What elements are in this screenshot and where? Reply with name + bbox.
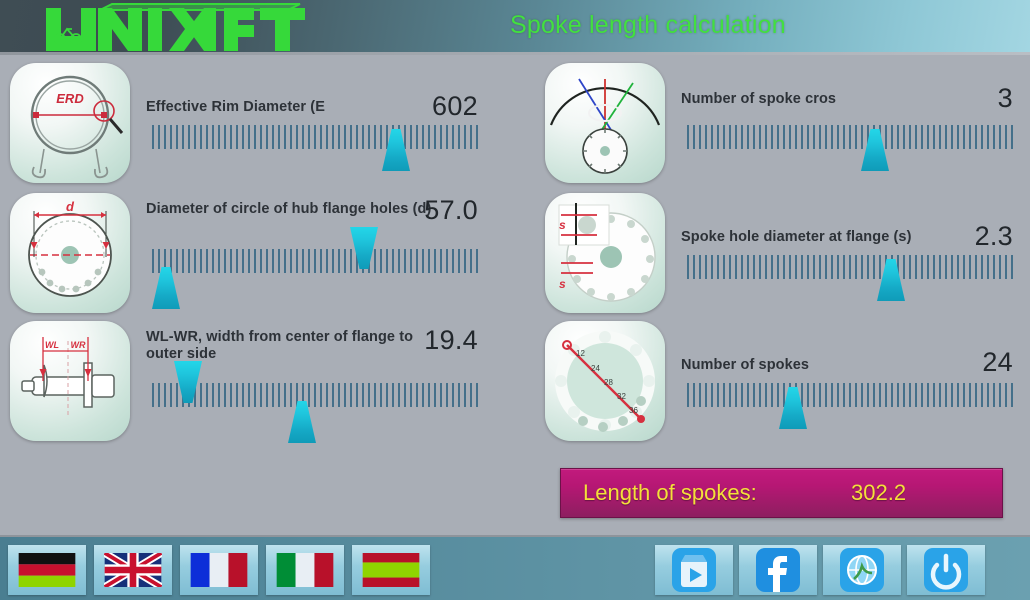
rim-erd-icon[interactable]: ERD bbox=[10, 63, 130, 183]
globe-icon bbox=[840, 548, 884, 592]
parameter-row: ERD Effective Rim Diameter (E 602 bbox=[10, 63, 510, 191]
svg-text:WL: WL bbox=[45, 340, 59, 350]
page-title: Spoke length calculation bbox=[510, 11, 786, 40]
parameter-controls: WL-WR, width from center of flange to ou… bbox=[146, 321, 510, 449]
svg-text:d: d bbox=[66, 199, 75, 214]
parameter-row: s s Spoke hole diameter at flange (s) 2.… bbox=[545, 193, 1030, 321]
parameter-slider[interactable] bbox=[146, 383, 510, 443]
right-parameter-column: Number of spoke cros 3 bbox=[545, 55, 1030, 535]
parameter-slider[interactable] bbox=[146, 125, 510, 185]
power-icon bbox=[924, 548, 968, 592]
parameter-label: WL-WR, width from center of flange to ou… bbox=[146, 329, 446, 363]
svg-text:ERD: ERD bbox=[56, 91, 84, 106]
parameter-label: Effective Rim Diameter (E bbox=[146, 99, 446, 116]
parameter-value: 602 bbox=[432, 91, 478, 122]
language-button-es[interactable] bbox=[352, 545, 430, 595]
number-of-spokes-icon[interactable]: 1224 2832 36 bbox=[545, 321, 665, 441]
parameter-row: WL WR WL-WR, width from center of flange… bbox=[10, 321, 510, 449]
italian-flag-icon bbox=[276, 553, 334, 587]
parameter-value: 2.3 bbox=[975, 221, 1013, 252]
slider-thumb-secondary[interactable] bbox=[288, 401, 316, 443]
parameter-controls: Number of spoke cros 3 bbox=[681, 63, 1030, 191]
slider-thumb[interactable] bbox=[779, 387, 807, 429]
slider-track[interactable] bbox=[152, 249, 482, 273]
language-button-fr[interactable] bbox=[180, 545, 258, 595]
hub-flange-circle-icon[interactable]: d bbox=[10, 193, 130, 313]
result-bar: Length of spokes: 302.2 bbox=[560, 468, 1003, 518]
slider-track[interactable] bbox=[687, 383, 1017, 407]
parameter-controls: Diameter of circle of hub flange holes (… bbox=[146, 193, 510, 321]
svg-text:12: 12 bbox=[576, 349, 585, 358]
slider-thumb-secondary[interactable] bbox=[152, 267, 180, 309]
power-button[interactable] bbox=[907, 545, 985, 595]
spoke-cross-icon[interactable] bbox=[545, 63, 665, 183]
parameter-row: 1224 2832 36 Number of spokes 24 bbox=[545, 321, 1030, 449]
svg-text:s: s bbox=[559, 277, 566, 291]
slider-thumb[interactable] bbox=[861, 129, 889, 171]
parameter-value: 3 bbox=[998, 83, 1013, 114]
parameter-label: Diameter of circle of hub flange holes (… bbox=[146, 201, 446, 218]
spoke-calculator-app: Spoke length calculation ERD bbox=[0, 0, 1030, 600]
app-header: Spoke length calculation bbox=[0, 0, 1030, 55]
parameter-controls: Spoke hole diameter at flange (s) 2.3 bbox=[681, 193, 1030, 321]
svg-text:32: 32 bbox=[617, 392, 626, 401]
result-label: Length of spokes: bbox=[583, 480, 757, 506]
svg-text:36: 36 bbox=[629, 406, 638, 415]
browser-button[interactable] bbox=[823, 545, 901, 595]
app-footer bbox=[0, 535, 1030, 600]
unikat-logo bbox=[38, 2, 313, 52]
svg-text:s: s bbox=[559, 218, 566, 232]
german-flag-icon bbox=[18, 553, 76, 587]
slider-track[interactable] bbox=[687, 125, 1017, 149]
slider-track[interactable] bbox=[152, 125, 482, 149]
svg-text:WR: WR bbox=[71, 340, 86, 350]
uk-flag-icon bbox=[104, 553, 162, 587]
result-value: 302.2 bbox=[851, 480, 906, 506]
parameter-label: Number of spokes bbox=[681, 357, 981, 374]
slider-thumb[interactable] bbox=[350, 227, 378, 269]
parameter-slider[interactable] bbox=[681, 125, 1030, 185]
hub-width-icon[interactable]: WL WR bbox=[10, 321, 130, 441]
slider-thumb[interactable] bbox=[877, 259, 905, 301]
spanish-flag-icon bbox=[362, 553, 420, 587]
parameter-slider[interactable] bbox=[681, 383, 1030, 443]
parameter-controls: Number of spokes 24 bbox=[681, 321, 1030, 449]
french-flag-icon bbox=[190, 553, 248, 587]
play-store-icon bbox=[672, 548, 716, 592]
parameter-value: 24 bbox=[982, 347, 1013, 378]
slider-track[interactable] bbox=[687, 255, 1017, 279]
language-button-it[interactable] bbox=[266, 545, 344, 595]
slider-thumb[interactable] bbox=[174, 361, 202, 403]
parameter-row: d Diameter of circle of hub flange holes… bbox=[10, 193, 510, 321]
facebook-icon bbox=[756, 548, 800, 592]
play-store-button[interactable] bbox=[655, 545, 733, 595]
parameter-slider[interactable] bbox=[681, 255, 1030, 315]
parameter-value: 19.4 bbox=[424, 325, 478, 356]
parameter-value: 57.0 bbox=[424, 195, 478, 226]
parameter-slider[interactable] bbox=[146, 249, 510, 309]
facebook-button[interactable] bbox=[739, 545, 817, 595]
parameters-area: ERD Effective Rim Diameter (E 602 bbox=[0, 55, 1030, 535]
language-button-de[interactable] bbox=[8, 545, 86, 595]
svg-text:24: 24 bbox=[591, 364, 600, 373]
spoke-hole-diameter-icon[interactable]: s s bbox=[545, 193, 665, 313]
slider-thumb[interactable] bbox=[382, 129, 410, 171]
parameter-row: Number of spoke cros 3 bbox=[545, 63, 1030, 191]
svg-text:28: 28 bbox=[604, 378, 613, 387]
parameter-controls: Effective Rim Diameter (E 602 bbox=[146, 63, 510, 191]
parameter-label: Spoke hole diameter at flange (s) bbox=[681, 229, 981, 246]
left-parameter-column: ERD Effective Rim Diameter (E 602 bbox=[10, 55, 510, 535]
parameter-label: Number of spoke cros bbox=[681, 91, 981, 108]
language-button-en[interactable] bbox=[94, 545, 172, 595]
